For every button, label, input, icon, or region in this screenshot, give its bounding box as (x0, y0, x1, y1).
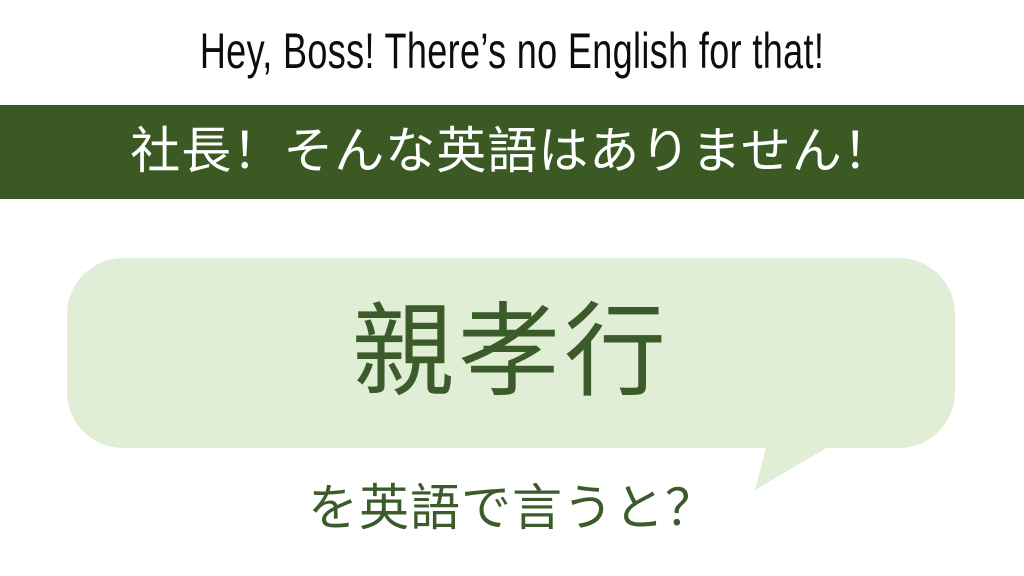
speech-bubble: 親孝行 (67, 258, 955, 448)
caption-question: を英語で言うと？ (0, 478, 1024, 538)
slide-canvas: Hey, Boss! There’s no English for that! … (0, 0, 1024, 576)
headline-japanese: 社長！そんな英語はありません！ (0, 121, 1024, 181)
headline-english: Hey, Boss! There’s no English for that! (143, 22, 880, 80)
bubble-word-text: 親孝行 (67, 258, 955, 448)
green-title-band: 社長！そんな英語はありません！ (0, 105, 1024, 199)
